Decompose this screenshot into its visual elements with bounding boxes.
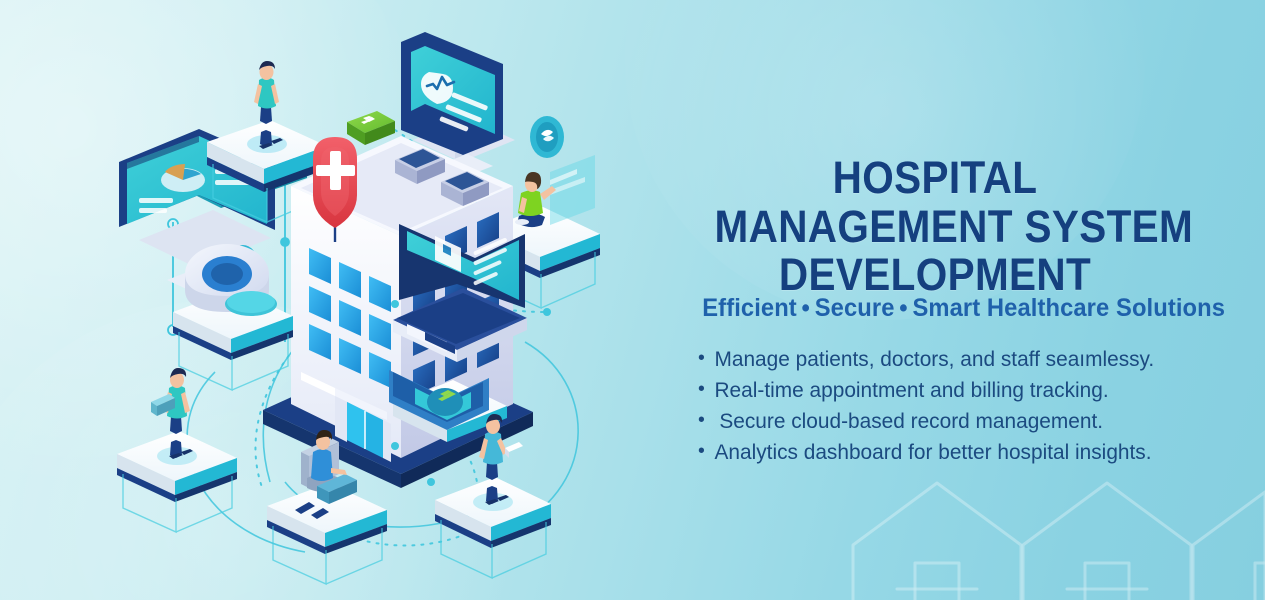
subtitle: Efficient•Secure•Smart Healthcare Soluti…: [702, 294, 1168, 323]
feature-list: Manage patients, doctors, and staff seaı…: [698, 344, 1198, 468]
subtitle-part-2: Secure: [815, 294, 895, 322]
feature-item: Analytics dashboard for better hospital …: [698, 437, 1183, 468]
platform-mri-scanner: [173, 244, 293, 390]
feature-item: Secure cloud-based record management.: [698, 406, 1183, 437]
feature-item: Manage patients, doctors, and staff seaı…: [698, 344, 1183, 375]
subtitle-part-3: Smart Healthcare Solutions: [912, 294, 1225, 322]
platform-person-with-tablet: [117, 368, 237, 532]
subtitle-separator-2: •: [895, 294, 913, 322]
pill-badge: [530, 116, 564, 158]
feature-item: Real-time appointment and billing tracki…: [698, 375, 1183, 406]
title-line-1: HOSPITAL: [715, 154, 1156, 203]
mri-scanner: [185, 244, 277, 316]
page-title: HOSPITAL MANAGEMENT SYSTEM DEVELOPMENT: [715, 154, 1156, 300]
title-line-2: MANAGEMENT SYSTEM: [715, 203, 1156, 252]
subtitle-part-1: Efficient: [702, 294, 797, 322]
hospital-banner: HOSPITAL MANAGEMENT SYSTEM DEVELOPMENT E…: [0, 0, 1265, 600]
subtitle-separator-1: •: [797, 294, 815, 322]
green-cross-badge: [347, 111, 395, 145]
hospital-ecosystem-illustration: [95, 12, 675, 587]
title-line-3: DEVELOPMENT: [715, 251, 1156, 300]
text-column: HOSPITAL MANAGEMENT SYSTEM DEVELOPMENT E…: [690, 0, 1250, 600]
